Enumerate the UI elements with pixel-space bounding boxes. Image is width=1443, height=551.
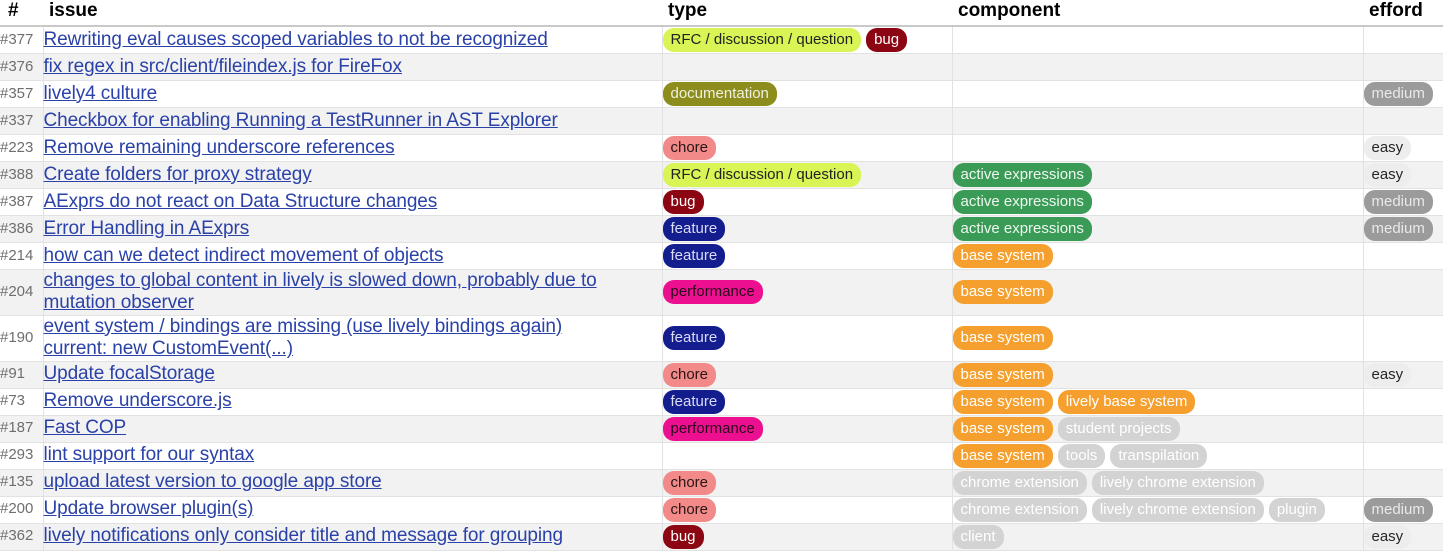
type-badge[interactable]: chore: [663, 471, 717, 495]
issue-title-link[interactable]: Rewriting eval causes scoped variables t…: [44, 29, 662, 51]
table-row[interactable]: #135upload latest version to google app …: [0, 469, 1443, 496]
component-badge[interactable]: lively chrome extension: [1092, 498, 1264, 522]
column-header-issue[interactable]: issue: [43, 0, 662, 26]
table-row[interactable]: #190event system / bindings are missing …: [0, 315, 1443, 361]
issue-title-cell: lively notifications only consider title…: [43, 523, 662, 550]
component-cell: [952, 134, 1363, 161]
type-cell: chore: [662, 361, 952, 388]
table-row[interactable]: #200Update browser plugin(s)chorechrome …: [0, 496, 1443, 523]
type-badge[interactable]: bug: [866, 28, 907, 52]
component-badge[interactable]: active expressions: [953, 190, 1092, 214]
efford-badge-group: medium: [1364, 217, 1443, 241]
type-badge-group: chore: [663, 136, 952, 160]
issue-title-cell: Rewriting eval causes scoped variables t…: [43, 26, 662, 54]
issue-title-link[interactable]: Update browser plugin(s): [44, 498, 662, 520]
efford-cell: easy: [1363, 523, 1443, 550]
component-badge-group: base systemstudent projects: [953, 417, 1363, 441]
component-badge[interactable]: tools: [1058, 444, 1106, 468]
type-badge[interactable]: documentation: [663, 82, 777, 106]
issue-title-cell: Checkbox for enabling Running a TestRunn…: [43, 107, 662, 134]
issue-number: #376: [0, 53, 43, 80]
component-badge[interactable]: active expressions: [953, 163, 1092, 187]
issue-title-link[interactable]: Checkbox for enabling Running a TestRunn…: [44, 110, 662, 132]
issue-title-cell: Update focalStorage: [43, 361, 662, 388]
efford-cell: [1363, 107, 1443, 134]
efford-cell: medium: [1363, 188, 1443, 215]
type-cell: feature: [662, 215, 952, 242]
type-badge[interactable]: performance: [663, 280, 763, 304]
efford-cell: [1363, 315, 1443, 361]
component-badge-group: active expressions: [953, 217, 1363, 241]
type-cell: performance: [662, 415, 952, 442]
component-badge[interactable]: base system: [953, 280, 1053, 304]
issue-number: #135: [0, 469, 43, 496]
issue-number: #377: [0, 26, 43, 54]
type-cell: performance: [662, 269, 952, 315]
issue-title-cell: Create folders for proxy strategy: [43, 161, 662, 188]
efford-badge-group: medium: [1364, 82, 1443, 106]
column-header-component[interactable]: component: [952, 0, 1363, 26]
efford-cell: [1363, 469, 1443, 496]
table-row[interactable]: #388Create folders for proxy strategyRFC…: [0, 161, 1443, 188]
type-badge-group: bug: [663, 190, 952, 214]
efford-cell: [1363, 442, 1443, 469]
table-row[interactable]: #214how can we detect indirect movement …: [0, 242, 1443, 269]
issue-title-cell: event system / bindings are missing (use…: [43, 315, 662, 361]
type-cell: chore: [662, 134, 952, 161]
component-cell: client: [952, 523, 1363, 550]
issue-title-cell: fix regex in src/client/fileindex.js for…: [43, 53, 662, 80]
efford-badge-group: easy: [1364, 525, 1443, 549]
type-cell: [662, 53, 952, 80]
issue-table: # issue type component efford #377Rewrit…: [0, 0, 1443, 551]
efford-cell: [1363, 415, 1443, 442]
efford-badge[interactable]: medium: [1364, 190, 1433, 214]
issue-number: #204: [0, 269, 43, 315]
issue-number: #190: [0, 315, 43, 361]
component-cell: [952, 80, 1363, 107]
issue-title-link[interactable]: changes to global content in lively is s…: [44, 270, 662, 292]
type-badge[interactable]: bug: [663, 525, 704, 549]
table-row[interactable]: #73Remove underscore.jsfeaturebase syste…: [0, 388, 1443, 415]
component-badge-group: base systemlively base system: [953, 390, 1363, 414]
issue-title-cell: Remove remaining underscore references: [43, 134, 662, 161]
table-row[interactable]: #387AExprs do not react on Data Structur…: [0, 188, 1443, 215]
issue-title-link[interactable]: event system / bindings are missing (use…: [44, 316, 662, 338]
efford-badge-group: medium: [1364, 498, 1443, 522]
component-cell: [952, 26, 1363, 54]
issue-number: #362: [0, 523, 43, 550]
type-badge-group: chore: [663, 498, 952, 522]
type-badge[interactable]: chore: [663, 363, 717, 387]
type-badge-group: RFC / discussion / question: [663, 163, 952, 187]
component-cell: active expressions: [952, 215, 1363, 242]
issue-number: #187: [0, 415, 43, 442]
table-row[interactable]: #91Update focalStoragechorebase systemea…: [0, 361, 1443, 388]
issue-title-link-line2[interactable]: current: new CustomEvent(...): [44, 338, 662, 360]
issue-title-link[interactable]: Remove remaining underscore references: [44, 137, 662, 159]
component-badge-group: chrome extensionlively chrome extensionp…: [953, 498, 1363, 522]
efford-badge-group: easy: [1364, 163, 1443, 187]
efford-cell: easy: [1363, 161, 1443, 188]
type-cell: RFC / discussion / question: [662, 161, 952, 188]
issue-title-link[interactable]: lively notifications only consider title…: [44, 525, 662, 547]
efford-badge-group: easy: [1364, 363, 1443, 387]
component-cell: base systemlively base system: [952, 388, 1363, 415]
component-cell: base system: [952, 361, 1363, 388]
component-badge[interactable]: active expressions: [953, 217, 1092, 241]
issue-title-cell: Remove underscore.js: [43, 388, 662, 415]
issue-number: #387: [0, 188, 43, 215]
issue-title-cell: lint support for our syntax: [43, 442, 662, 469]
type-badge-group: performance: [663, 280, 952, 304]
table-header-row: # issue type component efford: [0, 0, 1443, 26]
component-badge[interactable]: chrome extension: [953, 471, 1087, 495]
efford-cell: [1363, 242, 1443, 269]
type-cell: chore: [662, 469, 952, 496]
efford-badge[interactable]: easy: [1364, 525, 1412, 549]
type-badge[interactable]: chore: [663, 498, 717, 522]
issue-number: #357: [0, 80, 43, 107]
component-badge[interactable]: base system: [953, 244, 1053, 268]
issue-title-cell: Update browser plugin(s): [43, 496, 662, 523]
issue-title-cell: Error Handling in AExprs: [43, 215, 662, 242]
efford-cell: easy: [1363, 134, 1443, 161]
efford-badge-group: medium: [1364, 190, 1443, 214]
issue-title-cell: how can we detect indirect movement of o…: [43, 242, 662, 269]
table-body: #377Rewriting eval causes scoped variabl…: [0, 26, 1443, 550]
issue-title-link[interactable]: how can we detect indirect movement of o…: [44, 245, 662, 267]
component-badge-group: base systemtoolstranspilation: [953, 444, 1363, 468]
issue-title-cell: lively4 culture: [43, 80, 662, 107]
type-cell: bug: [662, 188, 952, 215]
issue-number: #293: [0, 442, 43, 469]
table-row[interactable]: #293lint support for our syntaxbase syst…: [0, 442, 1443, 469]
type-badge[interactable]: feature: [663, 326, 726, 350]
type-badge-group: feature: [663, 326, 952, 350]
type-badge[interactable]: RFC / discussion / question: [663, 28, 862, 52]
component-cell: active expressions: [952, 188, 1363, 215]
component-badge-group: base system: [953, 326, 1363, 350]
type-cell: bug: [662, 523, 952, 550]
issue-number: #214: [0, 242, 43, 269]
issue-title-cell: upload latest version to google app stor…: [43, 469, 662, 496]
type-badge[interactable]: feature: [663, 390, 726, 414]
table-row[interactable]: #223Remove remaining underscore referenc…: [0, 134, 1443, 161]
component-cell: base systemstudent projects: [952, 415, 1363, 442]
type-badge-group: RFC / discussion / questionbug: [663, 28, 952, 52]
component-badge[interactable]: base system: [953, 444, 1053, 468]
efford-cell: medium: [1363, 80, 1443, 107]
column-header-number[interactable]: #: [0, 0, 43, 26]
efford-cell: [1363, 388, 1443, 415]
issue-title-link-line2[interactable]: mutation observer: [44, 292, 662, 314]
type-badge[interactable]: bug: [663, 190, 704, 214]
component-cell: [952, 107, 1363, 134]
type-cell: [662, 107, 952, 134]
issue-number: #386: [0, 215, 43, 242]
table-row[interactable]: #362lively notifications only consider t…: [0, 523, 1443, 550]
table-row[interactable]: #204changes to global content in lively …: [0, 269, 1443, 315]
component-badge[interactable]: chrome extension: [953, 498, 1087, 522]
component-cell: active expressions: [952, 161, 1363, 188]
type-badge[interactable]: performance: [663, 417, 763, 441]
component-badge-group: client: [953, 525, 1363, 549]
type-badge-group: chore: [663, 471, 952, 495]
issue-title-link[interactable]: lively4 culture: [44, 83, 662, 105]
component-cell: [952, 53, 1363, 80]
component-badge[interactable]: lively base system: [1058, 390, 1196, 414]
component-badge[interactable]: base system: [953, 363, 1053, 387]
table-row[interactable]: #377Rewriting eval causes scoped variabl…: [0, 26, 1443, 54]
column-header-type[interactable]: type: [662, 0, 952, 26]
table-row[interactable]: #376fix regex in src/client/fileindex.js…: [0, 53, 1443, 80]
issue-title-link[interactable]: Remove underscore.js: [44, 390, 662, 412]
efford-badge-group: easy: [1364, 136, 1443, 160]
efford-badge[interactable]: medium: [1364, 217, 1433, 241]
issue-title-link[interactable]: Fast COP: [44, 417, 662, 439]
table-header: # issue type component efford: [0, 0, 1443, 26]
issue-title-link[interactable]: Create folders for proxy strategy: [44, 164, 662, 186]
component-badge[interactable]: base system: [953, 390, 1053, 414]
issue-title-link[interactable]: Error Handling in AExprs: [44, 218, 662, 240]
efford-cell: [1363, 26, 1443, 54]
type-badge[interactable]: RFC / discussion / question: [663, 163, 862, 187]
type-badge-group: feature: [663, 244, 952, 268]
table-row[interactable]: #337Checkbox for enabling Running a Test…: [0, 107, 1443, 134]
issue-title-cell: changes to global content in lively is s…: [43, 269, 662, 315]
component-cell: chrome extensionlively chrome extension: [952, 469, 1363, 496]
issue-number: #337: [0, 107, 43, 134]
type-cell: feature: [662, 388, 952, 415]
type-badge-group: feature: [663, 390, 952, 414]
component-cell: base systemtoolstranspilation: [952, 442, 1363, 469]
type-badge-group: feature: [663, 217, 952, 241]
type-cell: [662, 442, 952, 469]
type-cell: RFC / discussion / questionbug: [662, 26, 952, 54]
component-cell: base system: [952, 315, 1363, 361]
issue-title-link[interactable]: lint support for our syntax: [44, 444, 662, 466]
type-badge[interactable]: feature: [663, 244, 726, 268]
component-badge-group: active expressions: [953, 163, 1363, 187]
type-badge-group: documentation: [663, 82, 952, 106]
component-badge-group: chrome extensionlively chrome extension: [953, 471, 1363, 495]
efford-badge[interactable]: medium: [1364, 498, 1433, 522]
efford-badge[interactable]: easy: [1364, 363, 1412, 387]
component-badge[interactable]: base system: [953, 417, 1053, 441]
component-badge[interactable]: base system: [953, 326, 1053, 350]
component-badge-group: base system: [953, 363, 1363, 387]
component-cell: base system: [952, 242, 1363, 269]
type-cell: documentation: [662, 80, 952, 107]
component-badge-group: base system: [953, 280, 1363, 304]
type-badge-group: bug: [663, 525, 952, 549]
issue-title-link[interactable]: upload latest version to google app stor…: [44, 471, 662, 493]
issue-title-cell: Fast COP: [43, 415, 662, 442]
type-badge[interactable]: feature: [663, 217, 726, 241]
issue-number: #388: [0, 161, 43, 188]
component-badge[interactable]: transpilation: [1110, 444, 1207, 468]
component-badge[interactable]: student projects: [1058, 417, 1180, 441]
efford-cell: [1363, 53, 1443, 80]
issue-number: #91: [0, 361, 43, 388]
issue-number: #200: [0, 496, 43, 523]
type-cell: chore: [662, 496, 952, 523]
component-badge-group: active expressions: [953, 190, 1363, 214]
issue-number: #223: [0, 134, 43, 161]
type-cell: feature: [662, 242, 952, 269]
efford-cell: medium: [1363, 215, 1443, 242]
table-row[interactable]: #187Fast COPperformancebase systemstuden…: [0, 415, 1443, 442]
efford-badge[interactable]: medium: [1364, 82, 1433, 106]
efford-cell: [1363, 269, 1443, 315]
issue-title-link[interactable]: AExprs do not react on Data Structure ch…: [44, 191, 662, 213]
component-badge-group: base system: [953, 244, 1363, 268]
efford-badge[interactable]: easy: [1364, 136, 1412, 160]
issue-title-link[interactable]: fix regex in src/client/fileindex.js for…: [44, 56, 662, 78]
type-cell: feature: [662, 315, 952, 361]
type-badge-group: performance: [663, 417, 952, 441]
type-badge[interactable]: chore: [663, 136, 717, 160]
efford-cell: medium: [1363, 496, 1443, 523]
table-row[interactable]: #357lively4 culturedocumentationmedium: [0, 80, 1443, 107]
column-header-efford[interactable]: efford: [1363, 0, 1443, 26]
component-badge[interactable]: client: [953, 525, 1004, 549]
issue-title-link[interactable]: Update focalStorage: [44, 363, 662, 385]
efford-cell: easy: [1363, 361, 1443, 388]
component-cell: chrome extensionlively chrome extensionp…: [952, 496, 1363, 523]
component-badge[interactable]: lively chrome extension: [1092, 471, 1264, 495]
component-cell: base system: [952, 269, 1363, 315]
type-badge-group: chore: [663, 363, 952, 387]
efford-badge[interactable]: easy: [1364, 163, 1412, 187]
issue-title-cell: AExprs do not react on Data Structure ch…: [43, 188, 662, 215]
issue-number: #73: [0, 388, 43, 415]
table-row[interactable]: #386Error Handling in AExprsfeatureactiv…: [0, 215, 1443, 242]
component-badge[interactable]: plugin: [1269, 498, 1325, 522]
